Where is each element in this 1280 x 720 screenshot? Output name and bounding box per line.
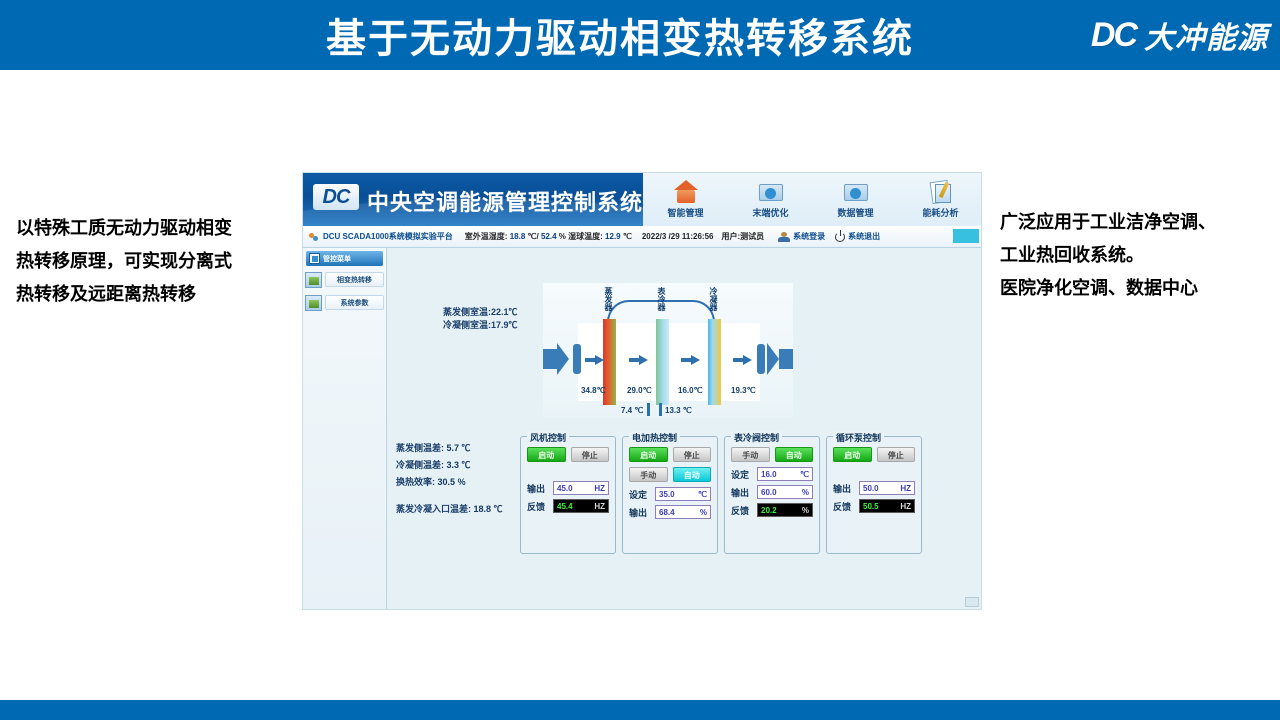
- coil-label-surface-cooler: 表冷器: [656, 287, 667, 311]
- field-value: 50.5: [863, 502, 879, 511]
- metric-unit: ℃: [462, 443, 471, 453]
- field-unit: ℃: [800, 470, 809, 479]
- control-group-circulation-pump: 循环泵控制 启动 停止 输出 50.0 HZ 反馈 50.5: [826, 436, 922, 554]
- folder-refresh-icon: [757, 179, 785, 205]
- field-label: 设定: [731, 468, 753, 481]
- flow-arrow-4-tail: [733, 358, 743, 362]
- control-group-electric-heater: 电加热控制 启动 停止 手动 自动 设定 35.0 ℃ 输出: [622, 436, 718, 554]
- status-accent-tab: [953, 229, 979, 243]
- air-temp-1: 34.8℃: [581, 386, 606, 395]
- field-value: 16.0: [761, 470, 777, 479]
- caption-right-line-1: 广泛应用于工业洁净空调、: [1000, 206, 1270, 239]
- control-group-title: 风机控制: [527, 431, 569, 444]
- field-value: 35.0: [659, 490, 675, 499]
- control-group-title: 循环泵控制: [833, 431, 884, 444]
- report-pen-icon: [927, 179, 955, 205]
- field-box: 20.2 %: [757, 503, 813, 517]
- toolbar-label: 智能管理: [647, 206, 725, 219]
- metric-label: 蒸发侧温差:: [396, 443, 444, 453]
- folder-data-icon: [842, 179, 870, 205]
- coil-surface-cooler: [656, 319, 669, 405]
- field-box[interactable]: 16.0 ℃: [757, 467, 813, 481]
- heater-button-row-2: 手动 自动: [629, 467, 711, 482]
- toolbar-label: 能耗分析: [902, 206, 980, 219]
- evaporator-room-temp: 蒸发侧室温:22.1℃: [443, 306, 518, 319]
- outdoor-temp-value: 18.8: [510, 232, 526, 241]
- outlet-air-arrow: [779, 349, 793, 369]
- coil-condenser: [708, 319, 721, 405]
- field-value: 45.4: [557, 502, 573, 511]
- coil-label-evaporator: 蒸发器: [603, 287, 614, 311]
- metric-row: 换热效率: 30.5 %: [396, 474, 503, 491]
- user-icon: [778, 232, 790, 242]
- outdoor-label: 室外温湿度:: [465, 232, 508, 241]
- outdoor-rh-unit: %: [559, 232, 566, 241]
- field-label: 输出: [527, 482, 549, 495]
- pump-feedback-field: 反馈 50.5 HZ: [833, 499, 915, 513]
- room-temperature-readouts: 蒸发侧室温:22.1℃ 冷凝侧室温:17.9℃: [443, 306, 518, 332]
- heater-button-row-1: 启动 停止: [629, 447, 711, 462]
- field-unit: ℃: [698, 490, 707, 499]
- scada-logo-icon: DC: [313, 184, 359, 210]
- heater-output-field[interactable]: 输出 68.4 %: [629, 505, 711, 519]
- field-box[interactable]: 60.0 %: [757, 485, 813, 499]
- air-temp-2: 29.0℃: [627, 386, 652, 395]
- wetbulb-label: 湿球温度:: [568, 232, 603, 241]
- flow-arrow-1-icon: [595, 355, 604, 365]
- outdoor-condition: 室外温湿度: 18.8 ℃/ 52.4 % 湿球温度: 12.9 ℃: [465, 231, 632, 242]
- caption-left: 以特殊工质无动力驱动相变 热转移原理，可实现分离式 热转移及远距离热转移: [16, 212, 288, 311]
- valve-manual-button[interactable]: 手动: [731, 447, 770, 462]
- water-temp-supply: 7.4 ℃: [621, 406, 643, 415]
- menu-icon: [309, 253, 320, 264]
- heater-manual-button[interactable]: 手动: [629, 467, 668, 482]
- metrics-spacer: [396, 491, 503, 501]
- platform-dots-icon: [309, 232, 319, 242]
- fan-button-row: 启动 停止: [527, 447, 609, 462]
- outdoor-rh-value: 52.4: [541, 232, 557, 241]
- field-value: 20.2: [761, 506, 777, 515]
- water-temp-return: 13.3 ℃: [665, 406, 692, 415]
- scada-status-bar: DCU SCADA1000系统模拟实验平台 室外温湿度: 18.8 ℃/ 52.…: [303, 226, 982, 248]
- field-label: 反馈: [527, 500, 549, 513]
- toolbar-item-data-management[interactable]: 数据管理: [817, 177, 895, 219]
- slide-header-bar: 基于无动力驱动相变热转移系统 DC 大冲能源: [0, 0, 1280, 70]
- brand-logo: DC 大冲能源: [1091, 12, 1268, 58]
- page-title: 基于无动力驱动相变热转移系统: [0, 0, 1280, 70]
- system-schematic: 蒸发器 表冷器 冷凝器 34.8℃ 29.0℃: [543, 283, 793, 418]
- control-group-cooling-coil-valve: 表冷阀控制 手动 自动 设定 16.0 ℃ 输出 60.0 %: [724, 436, 820, 554]
- sidebar-item-label: 系统参数: [325, 295, 384, 310]
- sidebar-item-label: 相变热转移: [325, 272, 384, 287]
- user-label: 用户:: [721, 232, 740, 241]
- slide-footer-bar: [0, 700, 1280, 720]
- sidebar-item-phase-change-heat-transfer[interactable]: 相变热转移: [305, 270, 384, 289]
- scada-sidebar: 管控菜单 相变热转移 系统参数: [303, 248, 387, 610]
- pump-stop-button[interactable]: 停止: [877, 447, 916, 462]
- toolbar-label: 数据管理: [817, 206, 895, 219]
- sidebar-item-system-parameters[interactable]: 系统参数: [305, 293, 384, 312]
- pump-output-field[interactable]: 输出 50.0 HZ: [833, 481, 915, 495]
- flow-arrow-4-icon: [743, 355, 752, 365]
- metric-unit: ℃: [462, 460, 471, 470]
- field-unit: %: [802, 488, 809, 497]
- field-box[interactable]: 68.4 %: [655, 505, 711, 519]
- air-temp-4: 19.3℃: [731, 386, 756, 395]
- metric-value: 3.3: [447, 460, 460, 470]
- field-unit: HZ: [900, 484, 911, 493]
- metric-unit: ℃: [494, 504, 503, 514]
- outdoor-temp-unit: ℃/: [528, 232, 539, 241]
- toolbar-item-intelligent-management[interactable]: 智能管理: [647, 177, 725, 219]
- field-box: 45.4 HZ: [553, 499, 609, 513]
- metric-value: 18.8: [474, 504, 492, 514]
- current-user: 用户:测试员: [721, 231, 764, 242]
- metric-value: 5.7: [447, 443, 460, 453]
- screen-icon: [305, 295, 322, 311]
- valve-button-row: 手动 自动: [731, 447, 813, 462]
- field-box[interactable]: 50.0 HZ: [859, 481, 915, 495]
- valve-auto-button[interactable]: 自动: [775, 447, 814, 462]
- valve-feedback-field: 反馈 20.2 %: [731, 503, 813, 517]
- metric-label: 蒸发冷凝入口温差:: [396, 504, 471, 514]
- fan-start-button[interactable]: 启动: [527, 447, 566, 462]
- fan-output-field[interactable]: 输出 45.0 HZ: [527, 481, 609, 495]
- flow-arrow-2-icon: [639, 355, 648, 365]
- inlet-damper: [573, 344, 581, 374]
- field-unit: HZ: [594, 502, 605, 511]
- caption-left-line-2: 热转移原理，可实现分离式: [16, 245, 288, 278]
- flow-arrow-2-tail: [629, 358, 639, 362]
- system-login-button[interactable]: 系统登录: [778, 231, 825, 242]
- valve-setpoint-field[interactable]: 设定 16.0 ℃: [731, 467, 813, 481]
- flow-arrow-3-icon: [691, 355, 700, 365]
- flow-arrow-1-tail: [585, 358, 595, 362]
- metric-label: 冷凝侧温差:: [396, 460, 444, 470]
- heater-auto-button[interactable]: 自动: [673, 467, 712, 482]
- fan-stop-button[interactable]: 停止: [571, 447, 610, 462]
- outlet-damper: [757, 344, 765, 374]
- field-label: 输出: [833, 482, 855, 495]
- resize-handle[interactable]: [965, 597, 979, 607]
- scada-screenshot: DC 中央空调能源管理控制系统 智能管理 末端优化 数据管理: [302, 172, 982, 610]
- inlet-air-arrow-head-icon: [557, 343, 569, 375]
- caption-right-line-2: 工业热回收系统。: [1000, 239, 1270, 272]
- scada-app-title: 中央空调能源管理控制系统: [367, 185, 643, 217]
- platform-name: DCU SCADA1000系统模拟实验平台: [323, 231, 453, 242]
- user-name: 测试员: [740, 232, 764, 241]
- caption-right-line-3: 医院净化空调、数据中心: [1000, 272, 1270, 305]
- field-box: 50.5 HZ: [859, 499, 915, 513]
- flow-arrow-3-tail: [681, 358, 691, 362]
- heater-setpoint-field[interactable]: 设定 35.0 ℃: [629, 487, 711, 501]
- field-label: 反馈: [731, 504, 753, 517]
- control-panels: 风机控制 启动 停止 输出 45.0 HZ 反馈 45.4: [520, 436, 922, 554]
- inlet-air-arrow: [543, 349, 557, 369]
- caption-right: 广泛应用于工业洁净空调、 工业热回收系统。 医院净化空调、数据中心: [1000, 206, 1270, 305]
- control-group-fan: 风机控制 启动 停止 输出 45.0 HZ 反馈 45.4: [520, 436, 616, 554]
- field-unit: %: [700, 508, 707, 517]
- field-label: 反馈: [833, 500, 855, 513]
- system-logout-button[interactable]: 系统退出: [835, 231, 880, 242]
- wetbulb-unit: ℃: [623, 232, 632, 241]
- water-tick-1-icon: [647, 403, 650, 416]
- sidebar-header-label: 管控菜单: [323, 254, 351, 264]
- field-value: 50.0: [863, 484, 879, 493]
- fan-spacer: [527, 467, 609, 481]
- logo-text: 大冲能源: [1144, 13, 1268, 57]
- valve-output-field[interactable]: 输出 60.0 %: [731, 485, 813, 499]
- air-temp-3: 16.0℃: [678, 386, 703, 395]
- screen-icon: [305, 272, 322, 288]
- fan-feedback-field: 反馈 45.4 HZ: [527, 499, 609, 513]
- pump-spacer: [833, 467, 915, 481]
- toolbar-item-energy-analysis[interactable]: 能耗分析: [902, 177, 980, 219]
- system-logout-label: 系统退出: [848, 231, 880, 242]
- toolbar-label: 末端优化: [732, 206, 810, 219]
- metric-label: 换热效率:: [396, 477, 435, 487]
- metric-row: 冷凝侧温差: 3.3 ℃: [396, 457, 503, 474]
- field-box[interactable]: 45.0 HZ: [553, 481, 609, 495]
- field-label: 输出: [731, 486, 753, 499]
- performance-metrics: 蒸发侧温差: 5.7 ℃ 冷凝侧温差: 3.3 ℃ 换热效率: 30.5 % 蒸…: [396, 440, 503, 518]
- pump-button-row: 启动 停止: [833, 447, 915, 462]
- datetime-readout: 2022/3 /29 11:26:56: [642, 232, 714, 241]
- wetbulb-value: 12.9: [605, 232, 621, 241]
- heater-start-button[interactable]: 启动: [629, 447, 668, 462]
- caption-left-line-3: 热转移及远距离热转移: [16, 278, 288, 311]
- scada-work-area: 蒸发侧室温:22.1℃ 冷凝侧室温:17.9℃ 蒸发器 表冷器 冷凝器: [388, 248, 982, 610]
- caption-left-line-1: 以特殊工质无动力驱动相变: [16, 212, 288, 245]
- field-unit: %: [802, 506, 809, 515]
- system-login-label: 系统登录: [793, 231, 825, 242]
- condenser-room-temp: 冷凝侧室温:17.9℃: [443, 319, 518, 332]
- field-value: 45.0: [557, 484, 573, 493]
- control-group-title: 电加热控制: [629, 431, 680, 444]
- field-value: 60.0: [761, 488, 777, 497]
- metric-row: 蒸发冷凝入口温差: 18.8 ℃: [396, 501, 503, 518]
- field-box[interactable]: 35.0 ℃: [655, 487, 711, 501]
- metric-value: 30.5: [438, 477, 456, 487]
- field-label: 设定: [629, 488, 651, 501]
- pump-start-button[interactable]: 启动: [833, 447, 872, 462]
- field-label: 输出: [629, 506, 651, 519]
- heater-stop-button[interactable]: 停止: [673, 447, 712, 462]
- logo-mark-dc: DC: [1091, 16, 1136, 55]
- metric-row: 蒸发侧温差: 5.7 ℃: [396, 440, 503, 457]
- home-icon: [672, 179, 700, 205]
- outlet-air-arrow-head-icon: [767, 343, 779, 375]
- control-group-title: 表冷阀控制: [731, 431, 782, 444]
- metric-unit: %: [458, 477, 466, 487]
- power-icon: [835, 232, 845, 242]
- field-unit: HZ: [900, 502, 911, 511]
- sidebar-header: 管控菜单: [306, 251, 383, 266]
- field-value: 68.4: [659, 508, 675, 517]
- field-unit: HZ: [594, 484, 605, 493]
- water-tick-2-icon: [659, 403, 662, 416]
- toolbar-item-terminal-optimization[interactable]: 末端优化: [732, 177, 810, 219]
- coil-label-condenser: 冷凝器: [708, 287, 719, 311]
